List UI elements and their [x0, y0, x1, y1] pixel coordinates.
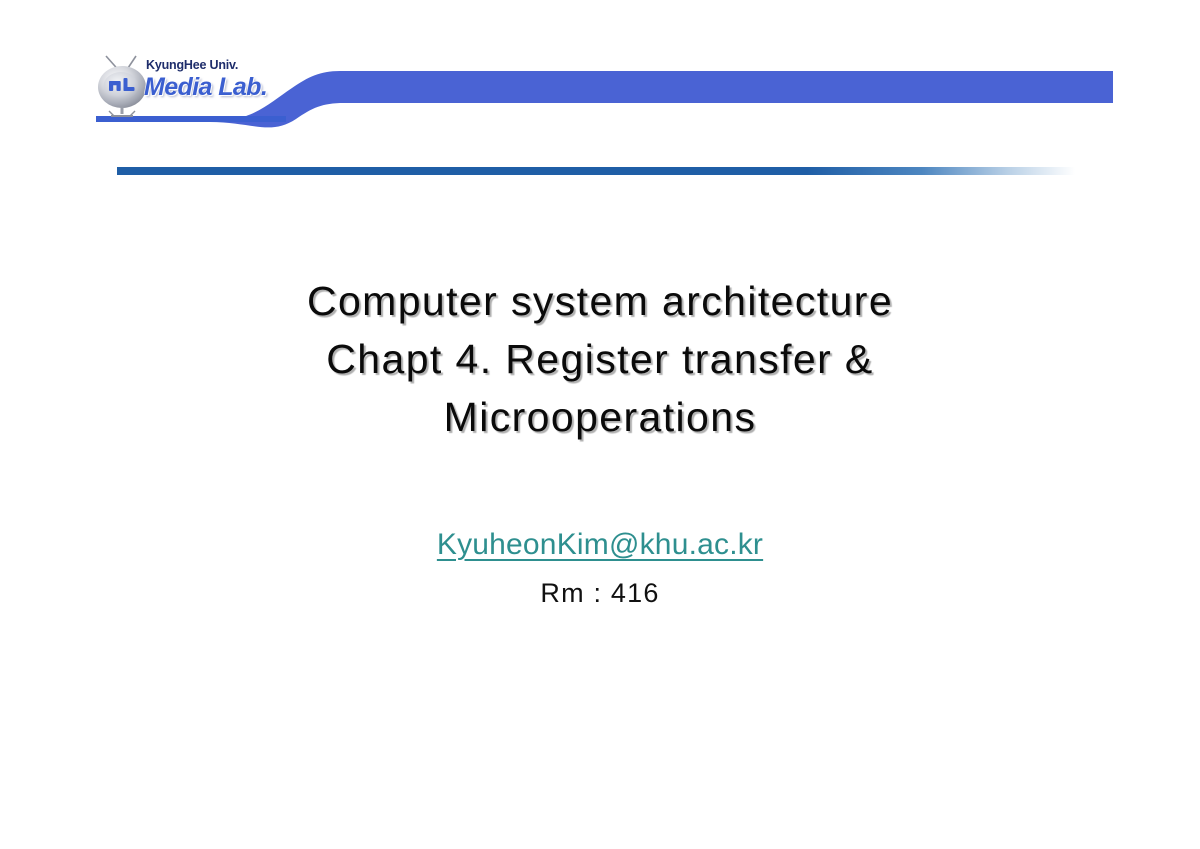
title-line-3: Microoperations [0, 388, 1200, 446]
room-number: Rm : 416 [0, 578, 1200, 609]
slide-contact: KyuheonKim@khu.ac.kr Rm : 416 [0, 528, 1200, 609]
logo-wordmark: KyungHee Univ. Media Lab. [144, 58, 294, 118]
logo-lab-name: Media Lab. [144, 73, 267, 102]
media-lab-logo: KyungHee Univ. Media Lab. [92, 52, 292, 122]
slide-title: Computer system architecture Chapt 4. Re… [0, 272, 1200, 446]
logo-university-name: KyungHee Univ. [146, 58, 238, 72]
title-line-2: Chapt 4. Register transfer & [0, 330, 1200, 388]
slide-canvas: KyungHee Univ. Media Lab. Computer syste… [0, 0, 1200, 849]
header-divider-rule [117, 167, 1075, 175]
title-line-1: Computer system architecture [0, 272, 1200, 330]
slide-header: KyungHee Univ. Media Lab. [0, 0, 1200, 150]
email-link[interactable]: KyuheonKim@khu.ac.kr [437, 528, 763, 562]
